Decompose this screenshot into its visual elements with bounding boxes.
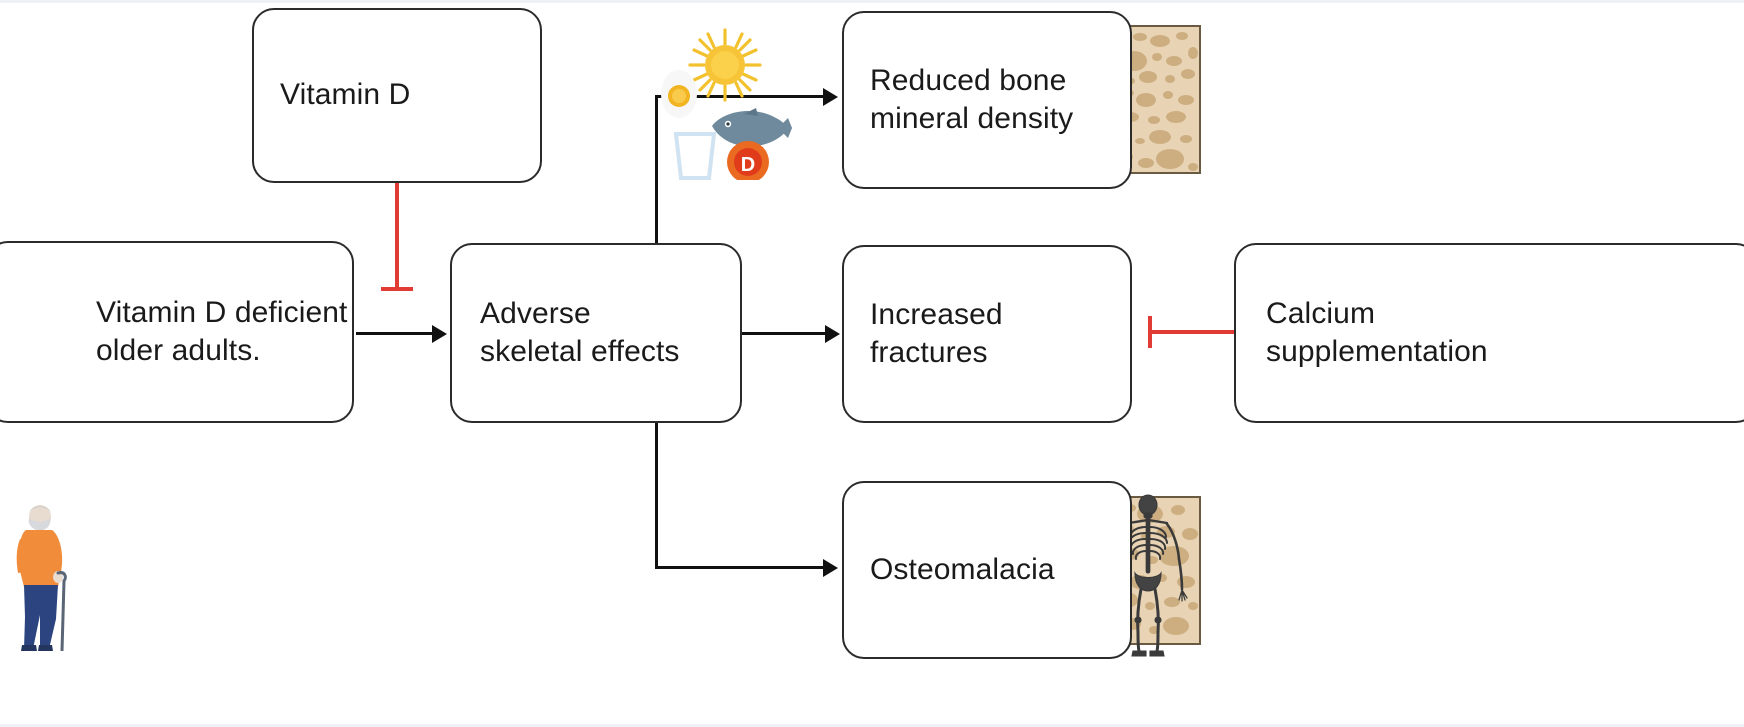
diagram-canvas: Vitamin D <box>0 0 1744 727</box>
node-increased-fractures[interactable]: Increased fractures <box>842 245 1132 423</box>
node-reduced-bone-mineral-density[interactable]: Reduced bone mineral density <box>842 11 1132 189</box>
node-reduced-bone-mineral-density-label: Reduced bone mineral density <box>870 62 1073 139</box>
fish-icon <box>712 108 792 146</box>
node-adverse-skeletal-effects[interactable]: Adverse skeletal effects <box>450 243 742 423</box>
node-vitamin-d[interactable]: Vitamin D <box>252 8 542 183</box>
node-vitamin-d-label: Vitamin D <box>280 76 410 114</box>
vitamin-d-pill-icon: D <box>727 141 769 180</box>
egg-icon <box>661 70 697 118</box>
node-adverse-skeletal-effects-label: Adverse skeletal effects <box>480 295 680 372</box>
node-osteomalacia-label: Osteomalacia <box>870 551 1055 589</box>
svg-text:D: D <box>741 154 755 176</box>
elderly-man-with-cane-icon <box>6 501 86 651</box>
node-vitamin-d-deficient-older-adults-label: Vitamin D deficient older adults. <box>96 294 347 371</box>
node-calcium-supplementation-label: Calcium supplementation <box>1266 295 1488 372</box>
node-vitamin-d-deficient-older-adults[interactable]: Vitamin D deficient older adults. <box>0 241 354 423</box>
node-calcium-supplementation[interactable]: Calcium supplementation Ca Ca <box>1234 243 1744 423</box>
sun-icon <box>690 30 760 100</box>
node-increased-fractures-label: Increased fractures <box>870 296 1003 373</box>
node-osteomalacia[interactable]: Osteomalacia <box>842 481 1132 659</box>
vitamin-d-icon-cluster: D <box>652 22 792 180</box>
milk-glass-icon <box>676 134 714 178</box>
